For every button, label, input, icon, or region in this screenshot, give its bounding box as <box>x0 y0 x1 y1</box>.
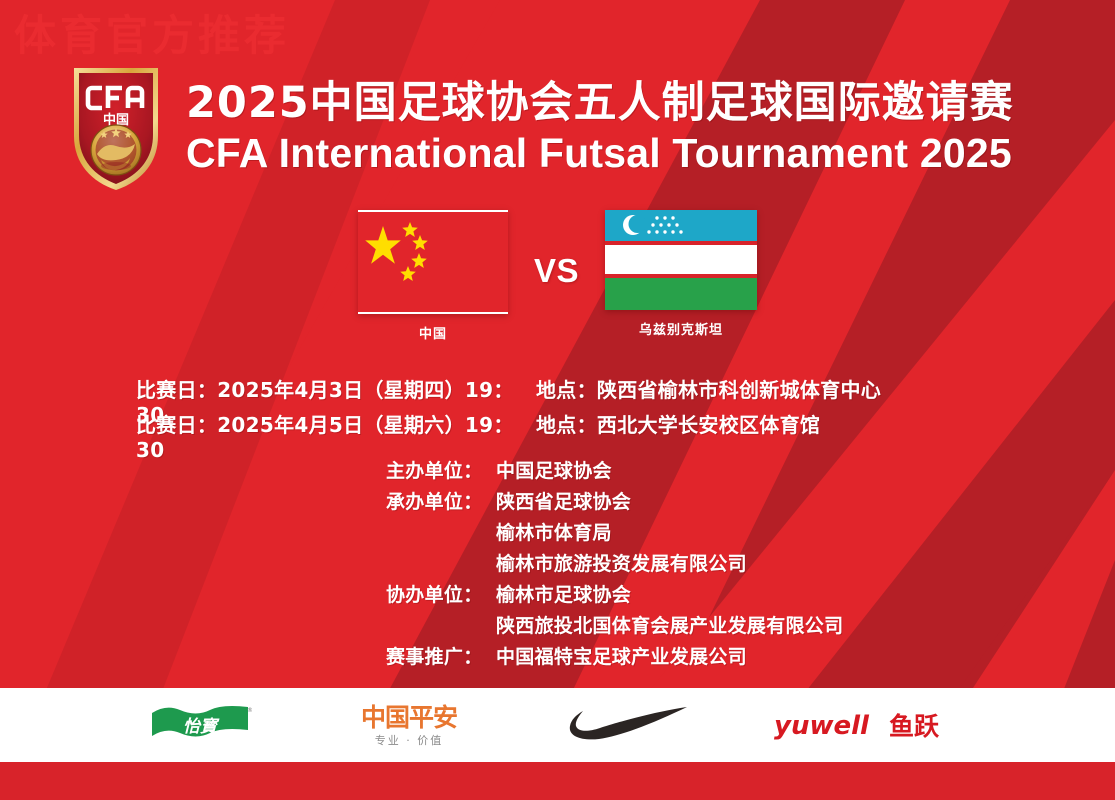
match-venue-1: 地点：陕西省榆林市科创新城体育中心 <box>536 374 881 403</box>
home-team: 中国 <box>358 210 508 342</box>
organizer-value: 陕西旅投北国体育会展产业发展有限公司 <box>496 611 1115 638</box>
nike-swoosh-icon <box>566 703 690 747</box>
schedule-row: 比赛日：2025年4月5日（星期六）19：30 地点：西北大学长安校区体育馆 <box>0 409 1115 444</box>
sponsor-bar: 怡寳 ® 中国平安 专业 · 价值 yuwell 鱼跃 <box>0 688 1115 762</box>
vs-label: VS <box>534 210 579 290</box>
organizer-row: 榆林市旅游投资发展有限公司 <box>0 549 1115 580</box>
watermark-text: 体育官方推荐 <box>14 2 290 63</box>
organizer-value: 榆林市体育局 <box>496 518 1115 545</box>
organizer-row: 承办单位： 陕西省足球协会 <box>0 487 1115 518</box>
schedule-section: 比赛日：2025年4月3日（星期四）19：30 地点：陕西省榆林市科创新城体育中… <box>0 374 1115 444</box>
away-team-name: 乌兹别克斯坦 <box>639 319 723 338</box>
svg-text:鱼跃: 鱼跃 <box>889 712 940 741</box>
organizer-value: 中国福特宝足球产业发展公司 <box>496 642 1115 669</box>
organizer-value: 榆林市足球协会 <box>496 580 1115 607</box>
svg-text:中国平安: 中国平安 <box>360 703 456 732</box>
organizer-value: 中国足球协会 <box>496 456 1115 483</box>
pingan-logo-icon: 中国平安 专业 · 价值 <box>334 699 484 751</box>
poster-header: 中国 2025中国足球协会五人制足球国际邀请赛 CFA Internationa… <box>0 58 1115 198</box>
organizer-row: 赛事推广： 中国福特宝足球产业发展公司 <box>0 642 1115 673</box>
svg-text:®: ® <box>247 707 252 714</box>
title-chinese: 2025中国足球协会五人制足球国际邀请赛 <box>186 79 1014 127</box>
organizer-row: 榆林市体育局 <box>0 518 1115 549</box>
bottom-red-strip <box>0 762 1115 800</box>
china-flag-icon <box>358 210 508 314</box>
title-block: 2025中国足球协会五人制足球国际邀请赛 CFA International F… <box>186 79 1014 176</box>
organizer-value: 榆林市旅游投资发展有限公司 <box>496 549 1115 576</box>
cfa-logo-icon: 中国 <box>70 62 162 194</box>
svg-text:怡寳: 怡寳 <box>183 717 220 737</box>
yuwell-logo-icon: yuwell 鱼跃 <box>772 705 968 745</box>
home-team-name: 中国 <box>419 323 447 342</box>
organizer-row: 陕西旅投北国体育会展产业发展有限公司 <box>0 611 1115 642</box>
organizer-label: 承办单位： <box>386 487 496 514</box>
title-english: CFA International Futsal Tournament 2025 <box>186 130 1014 177</box>
organizer-label: 主办单位： <box>386 456 496 483</box>
uzbekistan-flag-icon <box>605 210 757 310</box>
organizer-row: 主办单位： 中国足球协会 <box>0 456 1115 487</box>
away-team: 乌兹别克斯坦 <box>605 210 757 338</box>
match-date-2: 比赛日：2025年4月5日（星期六）19：30 <box>136 409 536 462</box>
matchup-section: 中国 VS <box>0 210 1115 345</box>
svg-text:yuwell: yuwell <box>774 711 870 741</box>
schedule-row: 比赛日：2025年4月3日（星期四）19：30 地点：陕西省榆林市科创新城体育中… <box>0 374 1115 409</box>
organizers-section: 主办单位： 中国足球协会 承办单位： 陕西省足球协会 榆林市体育局 榆林市旅游投… <box>0 456 1115 673</box>
tournament-poster: 体育官方推荐 <box>0 0 1115 800</box>
match-venue-2: 地点：西北大学长安校区体育馆 <box>536 409 820 438</box>
cestbon-logo-icon: 怡寳 ® <box>148 703 252 747</box>
svg-text:专业 · 价值: 专业 · 价值 <box>374 733 443 747</box>
organizer-row: 协办单位： 榆林市足球协会 <box>0 580 1115 611</box>
organizer-value: 陕西省足球协会 <box>496 487 1115 514</box>
organizer-label: 赛事推广： <box>386 642 496 669</box>
organizer-label: 协办单位： <box>386 580 496 607</box>
